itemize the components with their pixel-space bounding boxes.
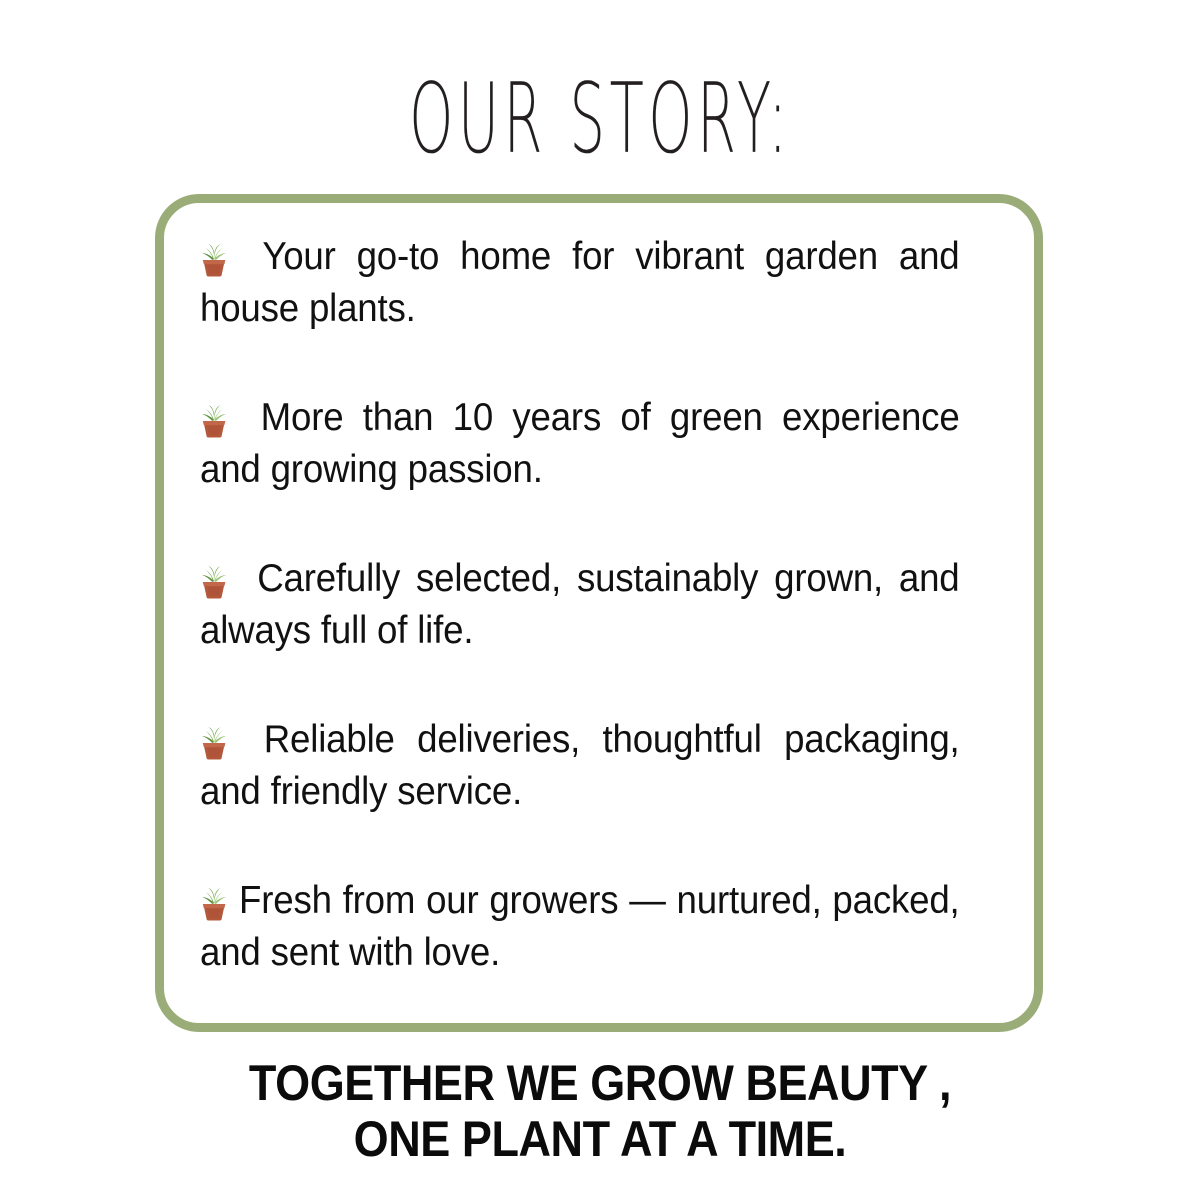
potted-plant-icon: [200, 402, 228, 438]
list-item: More than 10 years of green experience a…: [200, 392, 960, 496]
potted-plant-icon: [200, 724, 228, 760]
list-item-text: More than 10 years of green experience a…: [200, 396, 960, 491]
footer-line-1: TOGETHER WE GROW BEAUTY ,: [60, 1055, 1140, 1111]
footer-line-2: ONE PLANT AT A TIME.: [60, 1111, 1140, 1167]
potted-plant-icon: [200, 241, 228, 277]
list-item: Fresh from our growers — nurtured, packe…: [200, 875, 960, 979]
poster-page: OUR STORY: Y: [0, 0, 1200, 1200]
list-item-text: Reliable deliveries, thoughtful packagin…: [200, 718, 960, 813]
potted-plant-icon: [200, 885, 228, 921]
list-item: Your go-to home for vibrant garden and h…: [200, 231, 960, 335]
list-item-text: Your go-to home for vibrant garden and h…: [200, 235, 960, 330]
page-title: OUR STORY:: [409, 70, 791, 167]
story-box: Your go-to home for vibrant garden and h…: [155, 194, 1043, 1032]
story-list: Your go-to home for vibrant garden and h…: [200, 231, 1008, 979]
footer-tagline: TOGETHER WE GROW BEAUTY , ONE PLANT AT A…: [0, 1055, 1200, 1167]
list-item: Carefully selected, sustainably grown, a…: [200, 553, 960, 657]
list-item: Reliable deliveries, thoughtful packagin…: [200, 714, 960, 818]
potted-plant-icon: [200, 563, 228, 599]
page-title-container: OUR STORY:: [0, 70, 1200, 146]
list-item-text: Fresh from our growers — nurtured, packe…: [200, 879, 960, 974]
list-item-text: Carefully selected, sustainably grown, a…: [200, 557, 960, 652]
